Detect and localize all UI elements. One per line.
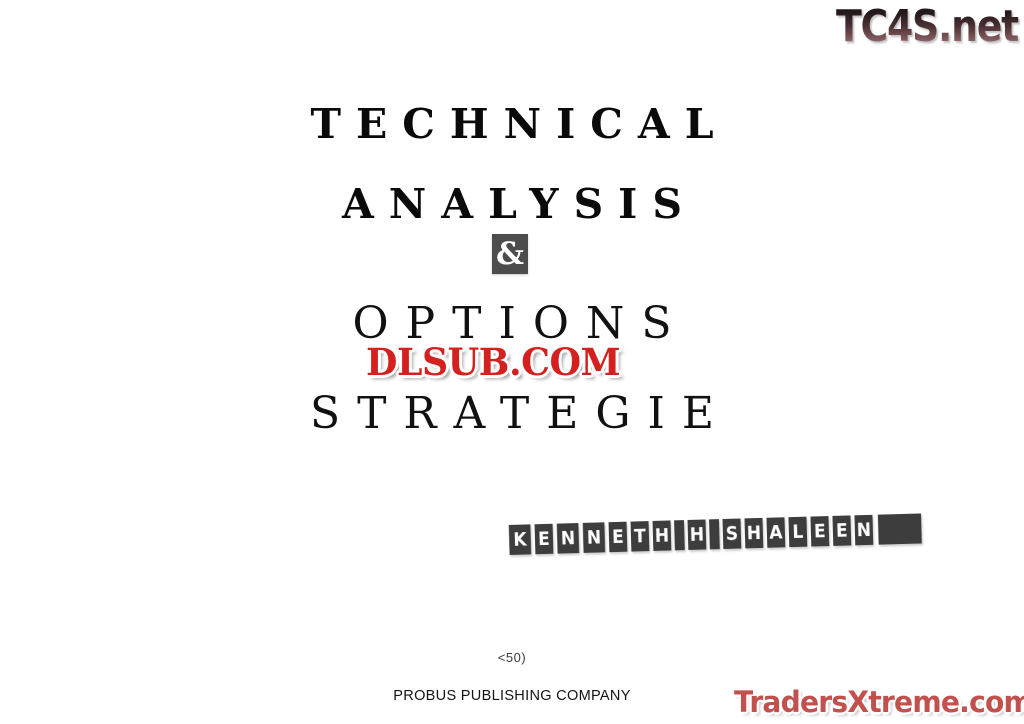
author-name-tile: E (609, 522, 628, 552)
tradersxtreme-watermark: TradersXtreme.com (734, 684, 1024, 720)
title-line-analysis: ANALYSIS (0, 180, 1024, 228)
author-name-tile: A (766, 517, 785, 547)
author-name-tile: H (653, 520, 672, 550)
author-name-tile: N (557, 523, 579, 554)
book-title-page: TC4S.net TECHNICAL ANALYSIS & OPTIONS DL… (0, 0, 1024, 724)
author-name-tile: S (722, 519, 741, 549)
author-name-tile: N (583, 522, 605, 553)
title-line-technical: TECHNICAL (0, 100, 1024, 148)
author-name-block: KENNETHHSHALEEN (508, 513, 925, 555)
author-name-tile: H (744, 518, 763, 548)
author-name-tile: L (788, 517, 807, 547)
tc4s-watermark: TC4S.net (836, 2, 1018, 52)
title-line-strategie: STRATEGIE (0, 388, 1024, 439)
author-name-tile: K (509, 524, 531, 555)
author-name-tile: T (631, 521, 650, 551)
author-name-tile: E (810, 516, 829, 546)
author-name-tile: E (832, 515, 851, 545)
ampersand-block: & (492, 234, 528, 274)
author-name-tile: E (535, 524, 554, 554)
author-name-tile (674, 520, 685, 550)
author-name-tile (709, 519, 720, 549)
author-name-tile (878, 513, 922, 544)
dlsub-watermark: DLSUB.COM (366, 341, 620, 383)
author-name-tile: H (688, 519, 707, 549)
scan-artifact-text: <50) (0, 650, 1024, 665)
author-name-tile: N (854, 515, 873, 545)
